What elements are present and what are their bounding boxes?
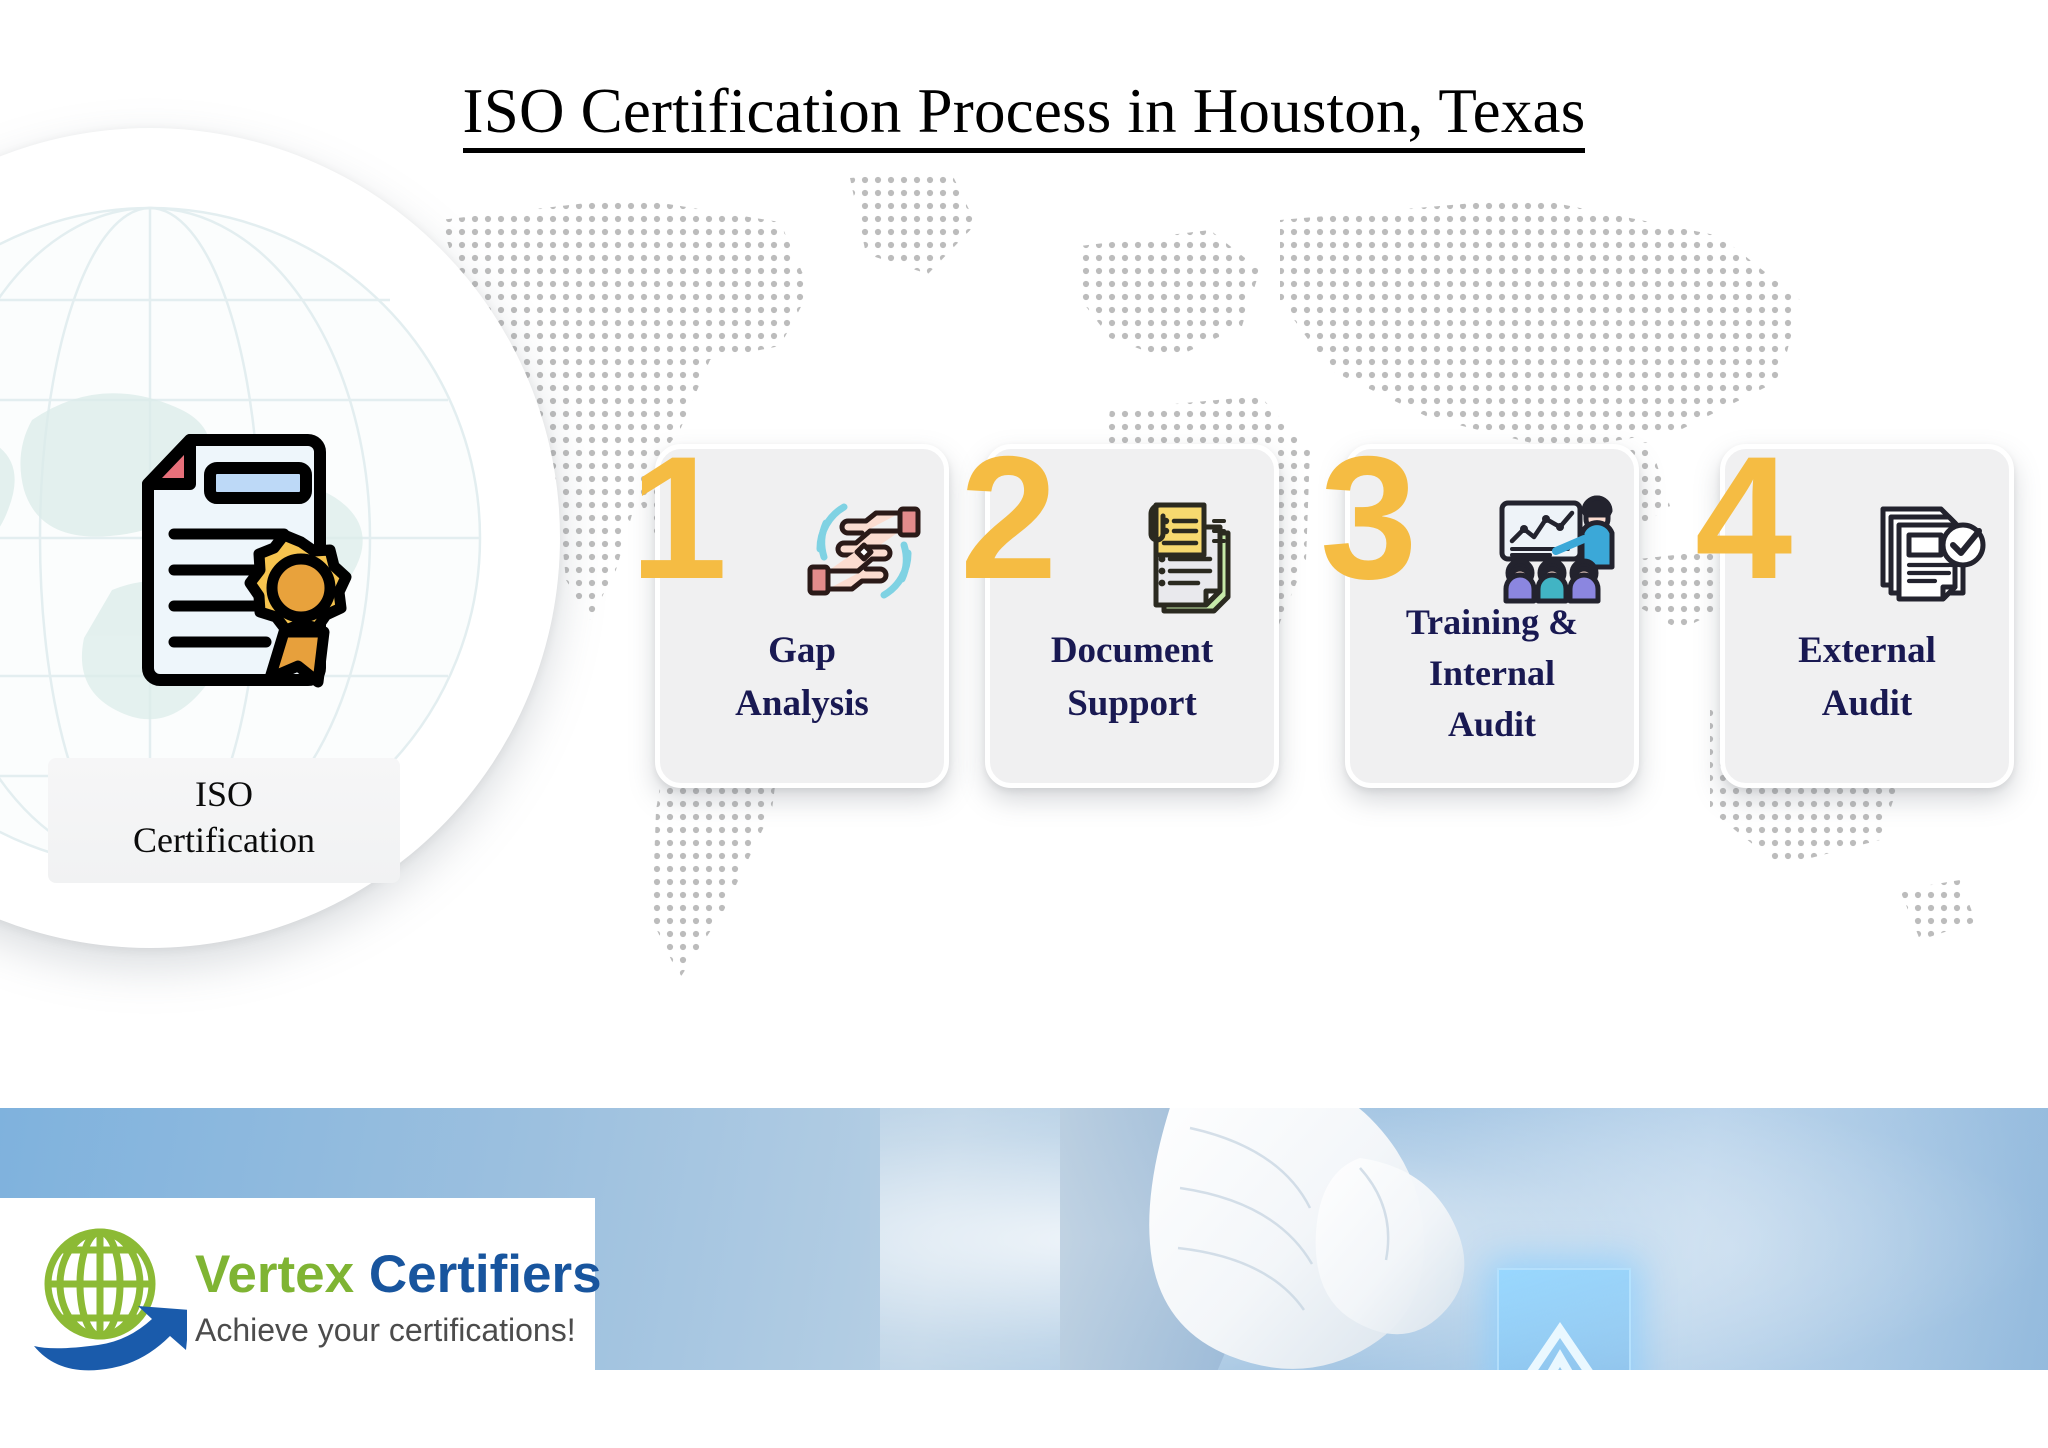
- step-label-3-line3: Audit: [1354, 699, 1630, 750]
- step-number-2: 2: [960, 431, 1057, 606]
- hero-badge: ISO Certification: [48, 758, 400, 883]
- document-notepad-icon: [1130, 487, 1258, 615]
- page-title: ISO Certification Process in Houston, Te…: [463, 78, 1586, 153]
- touch-arrow-icon: [1510, 1296, 1610, 1370]
- page-title-container: ISO Certification Process in Houston, Te…: [0, 78, 2048, 153]
- step-label-4: External Audit: [1725, 625, 2009, 730]
- step-label-3-line1: Training &: [1354, 597, 1630, 648]
- step-label-1-line2: Analysis: [664, 678, 940, 731]
- logo-word-vertex: Vertex: [195, 1245, 354, 1304]
- step-card-2[interactable]: 2: [985, 444, 1279, 788]
- logo-title: Vertex Certifiers: [195, 1248, 602, 1301]
- step-label-1: Gap Analysis: [660, 625, 944, 730]
- hero-badge-line2: Certification: [58, 818, 390, 864]
- step-label-4-line1: External: [1729, 625, 2005, 678]
- step-label-3: Training & Internal Audit: [1350, 597, 1634, 750]
- step-number-1: 1: [630, 431, 727, 606]
- hero-badge-line1: ISO: [58, 772, 390, 818]
- step-label-4-line2: Audit: [1729, 678, 2005, 731]
- company-logo[interactable]: Vertex Certifiers Achieve your certifica…: [0, 1198, 595, 1396]
- step-label-2-line1: Document: [994, 625, 1270, 678]
- step-label-3-line2: Internal: [1354, 648, 1630, 699]
- step-card-3[interactable]: 3: [1345, 444, 1639, 788]
- audit-documents-check-icon: [1865, 487, 1993, 615]
- step-label-2-line2: Support: [994, 678, 1270, 731]
- logo-tagline: Achieve your certifications!: [195, 1314, 602, 1346]
- step-label-2: Document Support: [990, 625, 1274, 730]
- logo-word-certifiers: Certifiers: [369, 1245, 602, 1304]
- step-number-4: 4: [1695, 431, 1792, 606]
- certificate-seal-icon: [70, 410, 370, 710]
- step-card-1[interactable]: 1 Gap Analysis: [655, 444, 949, 788]
- handshake-global-icon: [800, 487, 928, 615]
- step-number-3: 3: [1320, 431, 1417, 606]
- globe-arrow-logo-icon: [22, 1222, 187, 1372]
- step-card-4[interactable]: 4 External Audit: [1720, 444, 2014, 788]
- training-presentation-icon: [1490, 487, 1618, 615]
- step-label-1-line1: Gap: [664, 625, 940, 678]
- logo-text-block: Vertex Certifiers Achieve your certifica…: [195, 1248, 602, 1346]
